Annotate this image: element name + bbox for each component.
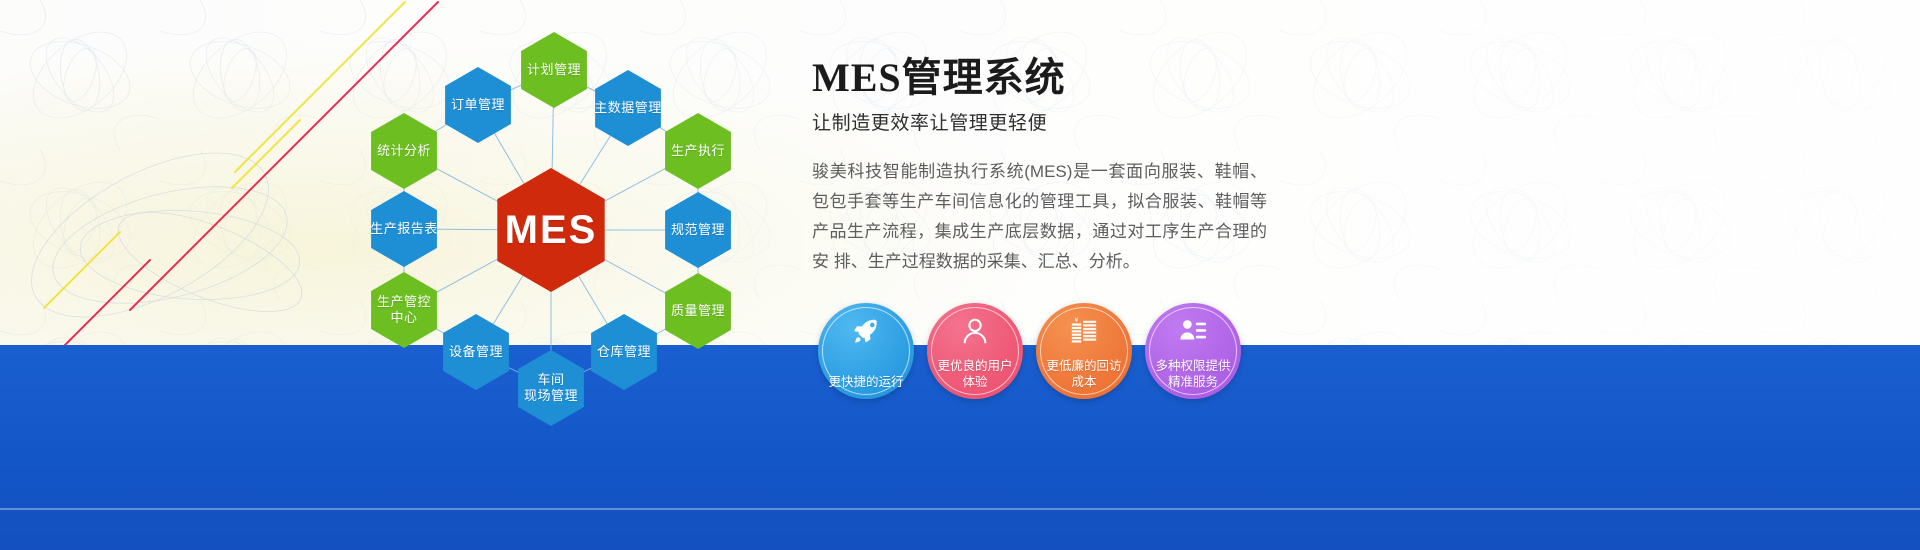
svg-text:¥: ¥ (1075, 317, 1079, 324)
feature-badge-4[interactable]: 多种权限提供 精准服务 (1145, 303, 1241, 399)
hex-node-6[interactable] (591, 314, 657, 390)
band-divider-line (0, 508, 1920, 510)
page-subtitle: 让制造更效率让管理更轻便 (812, 108, 1292, 135)
hex-node-1[interactable] (521, 32, 587, 108)
hex-node-11[interactable] (371, 113, 437, 189)
hex-node-10[interactable] (371, 191, 437, 267)
page-title: MES管理系统 (812, 54, 1292, 102)
feature-badge-label: 更优良的用户 体验 (932, 358, 1018, 390)
hex-node-7[interactable] (518, 350, 584, 426)
hex-center-node[interactable] (497, 168, 604, 292)
mes-promo-banner: 计划管理主数据管理生产执行规范管理质量管理仓库管理车间 现场管理设备管理生产管控… (0, 0, 1920, 550)
hex-node-2[interactable] (595, 70, 661, 146)
hex-node-9[interactable] (371, 272, 437, 348)
hex-node-3[interactable] (665, 113, 731, 189)
feature-badge-1[interactable]: 更快捷的运行 (818, 303, 914, 399)
headline-block: MES管理系统 让制造更效率让管理更轻便 骏美科技智能制造执行系统(MES)是一… (812, 54, 1292, 277)
hex-node-5[interactable] (665, 273, 731, 349)
feature-badge-label: 多种权限提供 精准服务 (1150, 358, 1236, 390)
hex-diagram-svg (330, 18, 800, 438)
feature-badge-label: 更低廉的回访 成本 (1041, 358, 1127, 390)
feature-badge-row: 更快捷的运行更优良的用户 体验¥更低廉的回访 成本多种权限提供 精准服务 (818, 303, 1241, 399)
coins-icon: ¥ (1069, 316, 1099, 346)
description-paragraph: 骏美科技智能制造执行系统(MES)是一套面向服装、鞋帽、包包手套等生产车间信息化… (812, 157, 1267, 277)
user-icon (960, 316, 990, 346)
rocket-icon (851, 316, 881, 346)
feature-badge-2[interactable]: 更优良的用户 体验 (927, 303, 1023, 399)
hex-node-8[interactable] (443, 314, 509, 390)
feature-badge-3[interactable]: ¥更低廉的回访 成本 (1036, 303, 1132, 399)
hex-node-4[interactable] (665, 192, 731, 268)
feature-badge-label: 更快捷的运行 (823, 374, 909, 390)
hex-node-12[interactable] (445, 67, 511, 143)
contacts-icon (1178, 316, 1208, 346)
mes-hex-diagram: 计划管理主数据管理生产执行规范管理质量管理仓库管理车间 现场管理设备管理生产管控… (330, 18, 800, 438)
